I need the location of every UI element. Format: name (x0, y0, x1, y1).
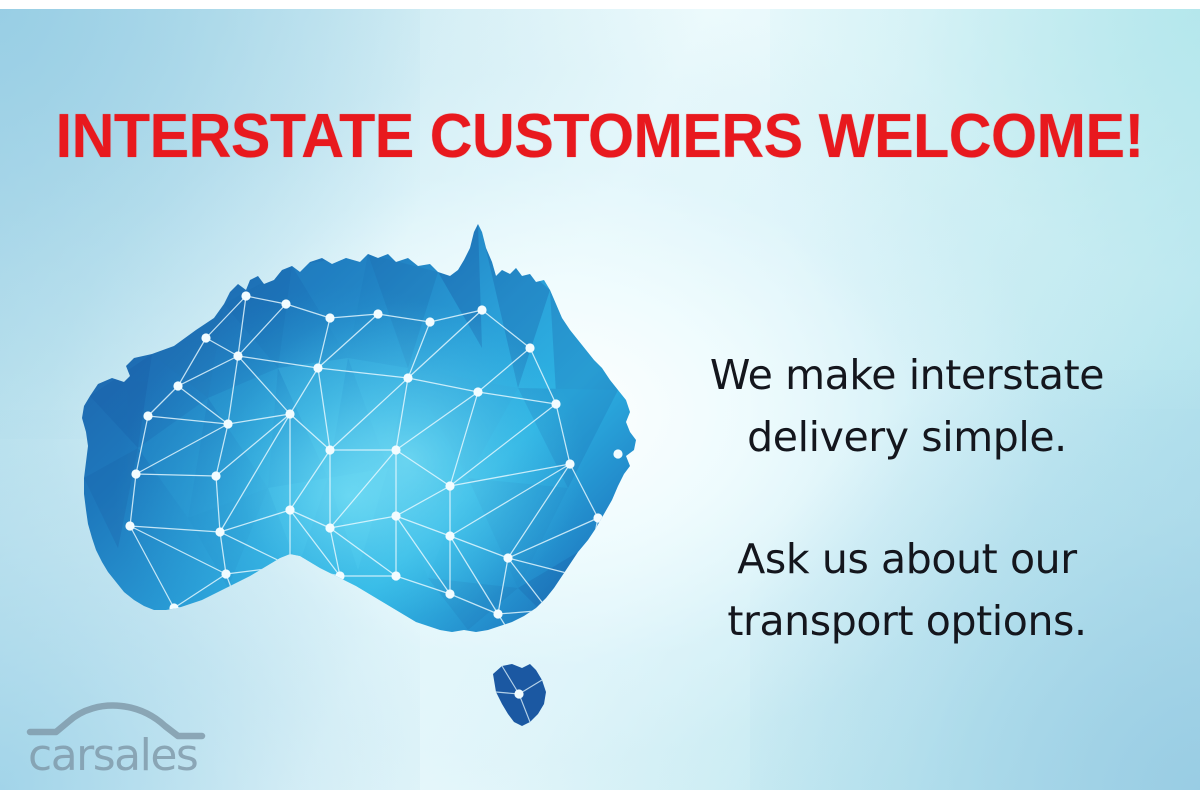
bottom-white-edge (0, 790, 1200, 800)
headline-text: INTERSTATE CUSTOMERS WELCOME! (56, 104, 1144, 170)
map-tasmania (478, 648, 588, 742)
logo-wordmark: carsales (28, 730, 197, 778)
carsales-logo: carsales (26, 698, 216, 778)
interstate-customers-banner: INTERSTATE CUSTOMERS WELCOME! (0, 0, 1200, 800)
australia-network-map (78, 218, 668, 742)
map-mainland (78, 218, 668, 742)
copy-line-4: transport options. (672, 590, 1142, 652)
copy-spacer (672, 468, 1142, 528)
copy-line-3: Ask us about our (672, 528, 1142, 590)
top-white-edge (0, 0, 1200, 9)
headline: INTERSTATE CUSTOMERS WELCOME! (0, 104, 1200, 170)
copy-line-2: delivery simple. (672, 406, 1142, 468)
marketing-copy: We make interstate delivery simple. Ask … (672, 344, 1142, 652)
copy-line-1: We make interstate (672, 344, 1142, 406)
